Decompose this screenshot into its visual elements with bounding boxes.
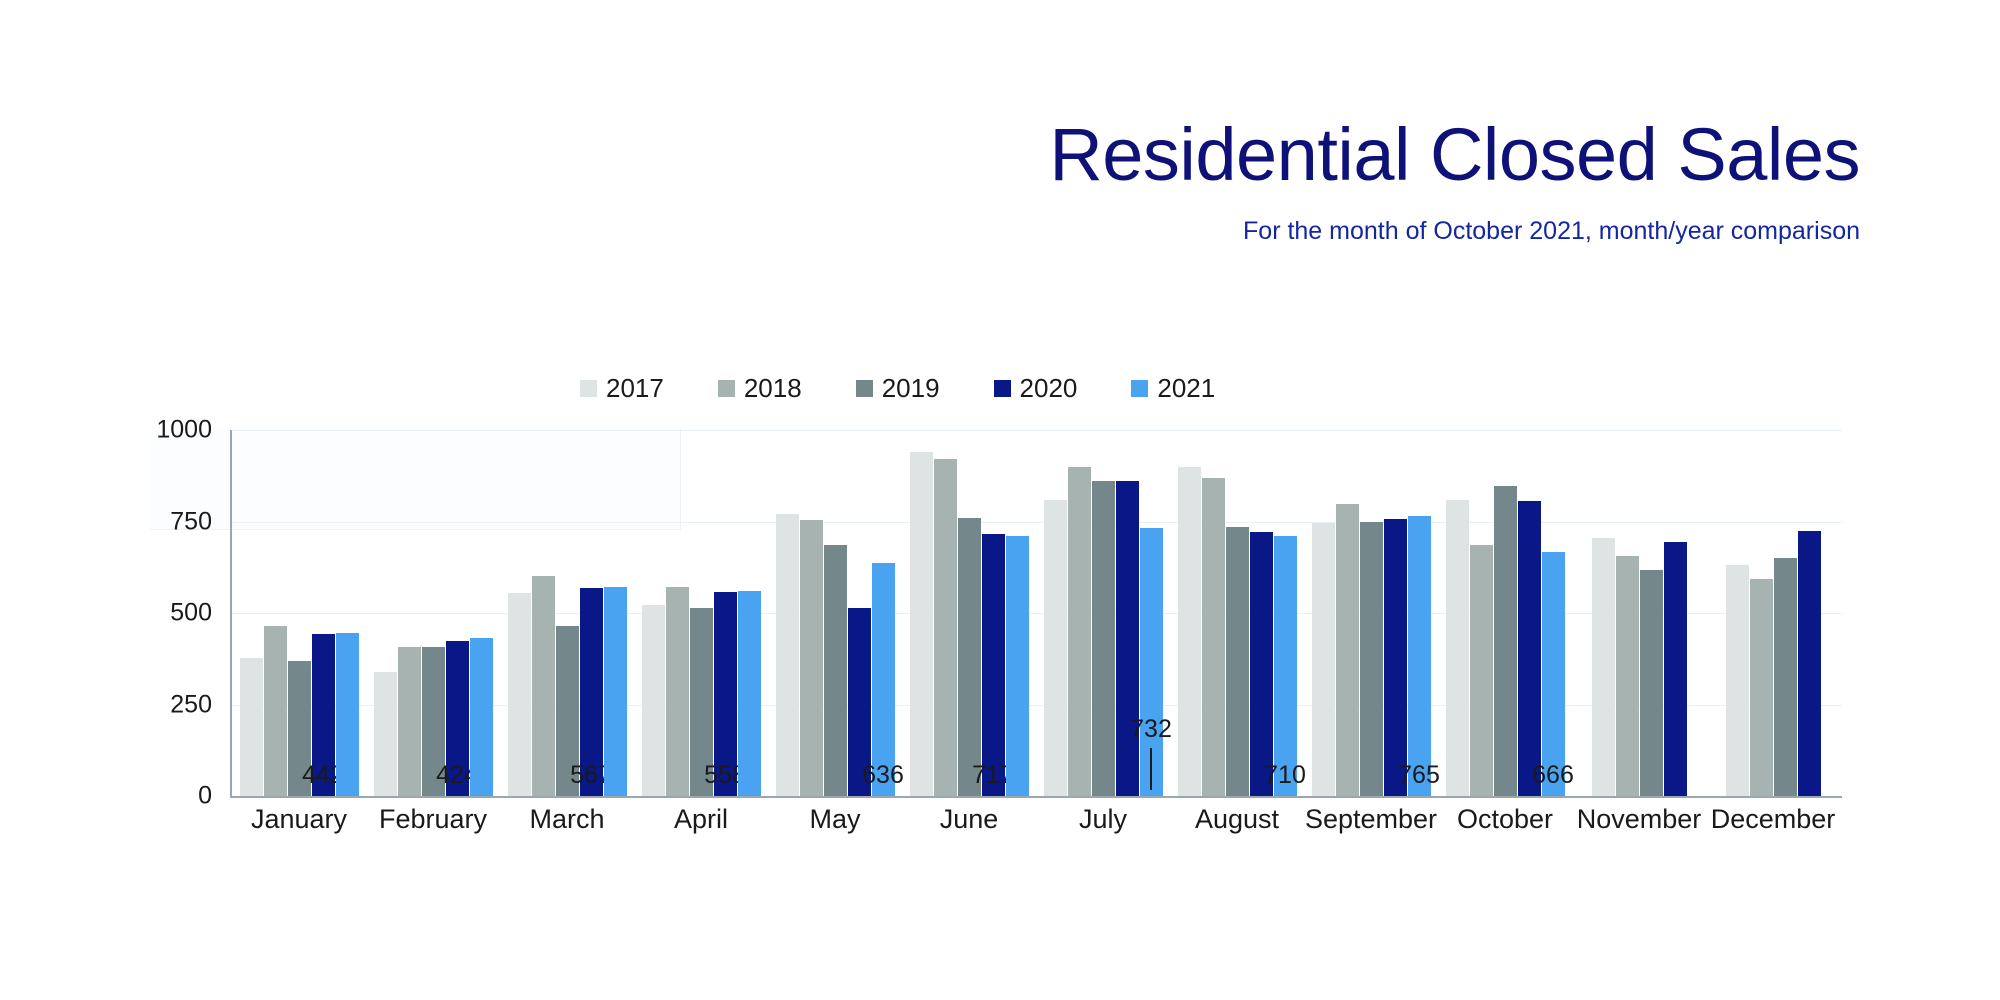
x-axis: JanuaryFebruaryMarchAprilMayJuneJulyAugu… <box>232 804 1840 835</box>
bar-group-november <box>1572 430 1706 796</box>
page-subtitle: For the month of October 2021, month/yea… <box>0 218 1860 245</box>
bar-group-february: 424 <box>366 430 500 796</box>
x-axis-label-february: February <box>366 804 500 835</box>
legend-item-label: 2017 <box>606 375 664 401</box>
bar-january-2021[interactable] <box>336 633 359 796</box>
bar-november-2019[interactable] <box>1640 570 1663 796</box>
bar-december-2017[interactable] <box>1726 565 1749 796</box>
x-axis-label-june: June <box>902 804 1036 835</box>
legend-item-2021[interactable]: 2021 <box>1131 375 1215 401</box>
bar-april-2021[interactable] <box>738 591 761 796</box>
bar-group-may: 636 <box>768 430 902 796</box>
legend-item-label: 2021 <box>1157 375 1215 401</box>
bar-june-2021[interactable] <box>1006 536 1029 796</box>
bar-november-2017[interactable] <box>1592 538 1615 796</box>
bar-september-2017[interactable] <box>1312 523 1335 796</box>
bar-value-label: 666 <box>1532 761 1574 790</box>
bar-march-2020[interactable]: 567 <box>580 588 603 796</box>
legend-swatch-icon <box>856 380 873 397</box>
bar-june-2020[interactable]: 717 <box>982 534 1005 796</box>
bar-august-2020[interactable] <box>1250 532 1273 796</box>
legend-item-label: 2020 <box>1020 375 1078 401</box>
bar-february-2018[interactable] <box>398 647 421 796</box>
y-axis-tick-label: 1000 <box>156 416 212 445</box>
chart-canvas: Residential Closed Sales For the month o… <box>0 0 2000 1000</box>
bar-november-2020[interactable] <box>1664 542 1687 796</box>
x-axis-label-january: January <box>232 804 366 835</box>
title-block: Residential Closed Sales For the month o… <box>0 118 1860 245</box>
bar-value-label: 710 <box>1264 761 1306 790</box>
bar-october-2017[interactable] <box>1446 500 1469 796</box>
bar-june-2017[interactable] <box>910 452 933 796</box>
bar-july-2018[interactable] <box>1068 467 1091 796</box>
x-axis-label-may: May <box>768 804 902 835</box>
bar-august-2017[interactable] <box>1178 467 1201 796</box>
bar-july-2019[interactable] <box>1092 481 1115 796</box>
bar-december-2018[interactable] <box>1750 579 1773 796</box>
bar-value-label: 636 <box>862 761 904 790</box>
bar-december-2019[interactable] <box>1774 558 1797 796</box>
legend-item-2017[interactable]: 2017 <box>580 375 664 401</box>
bar-august-2018[interactable] <box>1202 478 1225 796</box>
bar-march-2021[interactable] <box>604 587 627 796</box>
bar-february-2021[interactable] <box>470 638 493 796</box>
bar-april-2020[interactable]: 558 <box>714 592 737 796</box>
bar-group-january: 442 <box>232 430 366 796</box>
x-axis-label-march: March <box>500 804 634 835</box>
x-axis-label-december: December <box>1706 804 1840 835</box>
x-axis-label-july: July <box>1036 804 1170 835</box>
x-axis-label-october: October <box>1438 804 1572 835</box>
bar-group-september: 765 <box>1304 430 1438 796</box>
legend-item-label: 2019 <box>882 375 940 401</box>
bar-october-2020[interactable] <box>1518 501 1541 796</box>
bar-may-2021[interactable]: 636 <box>872 563 895 796</box>
bar-august-2021[interactable]: 710 <box>1274 536 1297 796</box>
chart-plot: 20172018201920202021 10007505002500 4424… <box>150 430 1850 850</box>
bar-may-2018[interactable] <box>800 520 823 796</box>
bar-january-2017[interactable] <box>240 658 263 796</box>
bar-september-2019[interactable] <box>1360 522 1383 797</box>
legend-item-2019[interactable]: 2019 <box>856 375 940 401</box>
bar-august-2019[interactable] <box>1226 527 1249 796</box>
bar-group-june: 717 <box>902 430 1036 796</box>
bar-value-label: 732 <box>1130 715 1172 744</box>
bar-group-december <box>1706 430 1840 796</box>
bar-october-2018[interactable] <box>1470 545 1493 796</box>
bar-may-2017[interactable] <box>776 514 799 796</box>
legend-item-2020[interactable]: 2020 <box>994 375 1078 401</box>
page-title: Residential Closed Sales <box>0 118 1860 192</box>
bar-february-2017[interactable] <box>374 672 397 796</box>
bar-september-2018[interactable] <box>1336 504 1359 796</box>
bar-july-2020[interactable] <box>1116 481 1139 796</box>
legend-item-label: 2018 <box>744 375 802 401</box>
y-axis-tick-label: 0 <box>198 782 212 811</box>
bar-groups: 442424567558636717732710765666 <box>232 430 1840 796</box>
x-axis-label-april: April <box>634 804 768 835</box>
y-axis-tick-label: 250 <box>170 690 212 719</box>
x-axis-label-september: September <box>1304 804 1438 835</box>
bar-october-2019[interactable] <box>1494 486 1517 796</box>
bar-july-2021[interactable]: 732 <box>1140 528 1163 796</box>
bar-value-label: 765 <box>1398 761 1440 790</box>
bar-group-august: 710 <box>1170 430 1304 796</box>
bar-group-april: 558 <box>634 430 768 796</box>
legend-swatch-icon <box>580 380 597 397</box>
legend-swatch-icon <box>1131 380 1148 397</box>
bar-group-october: 666 <box>1438 430 1572 796</box>
bar-june-2019[interactable] <box>958 518 981 796</box>
y-axis-tick-label: 500 <box>170 599 212 628</box>
bar-december-2020[interactable] <box>1798 531 1821 796</box>
bar-january-2020[interactable]: 442 <box>312 634 335 796</box>
y-axis: 10007505002500 <box>150 430 212 796</box>
bar-may-2019[interactable] <box>824 545 847 796</box>
bar-april-2018[interactable] <box>666 587 689 796</box>
label-leader-line <box>1150 748 1152 790</box>
bar-february-2020[interactable]: 424 <box>446 641 469 796</box>
x-axis-label-august: August <box>1170 804 1304 835</box>
bar-group-march: 567 <box>500 430 634 796</box>
bar-group-july: 732 <box>1036 430 1170 796</box>
bar-march-2017[interactable] <box>508 593 531 796</box>
y-axis-tick-label: 750 <box>170 507 212 536</box>
bar-january-2018[interactable] <box>264 626 287 796</box>
bar-september-2021[interactable]: 765 <box>1408 516 1431 796</box>
bar-april-2017[interactable] <box>642 605 665 796</box>
legend-swatch-icon <box>994 380 1011 397</box>
legend-swatch-icon <box>718 380 735 397</box>
bar-september-2020[interactable] <box>1384 519 1407 796</box>
bar-october-2021[interactable]: 666 <box>1542 552 1565 796</box>
bar-november-2018[interactable] <box>1616 556 1639 796</box>
x-axis-label-november: November <box>1572 804 1706 835</box>
bar-march-2018[interactable] <box>532 576 555 796</box>
chart-legend: 20172018201920202021 <box>580 375 1215 401</box>
bar-july-2017[interactable] <box>1044 500 1067 796</box>
bar-june-2018[interactable] <box>934 459 957 796</box>
legend-item-2018[interactable]: 2018 <box>718 375 802 401</box>
